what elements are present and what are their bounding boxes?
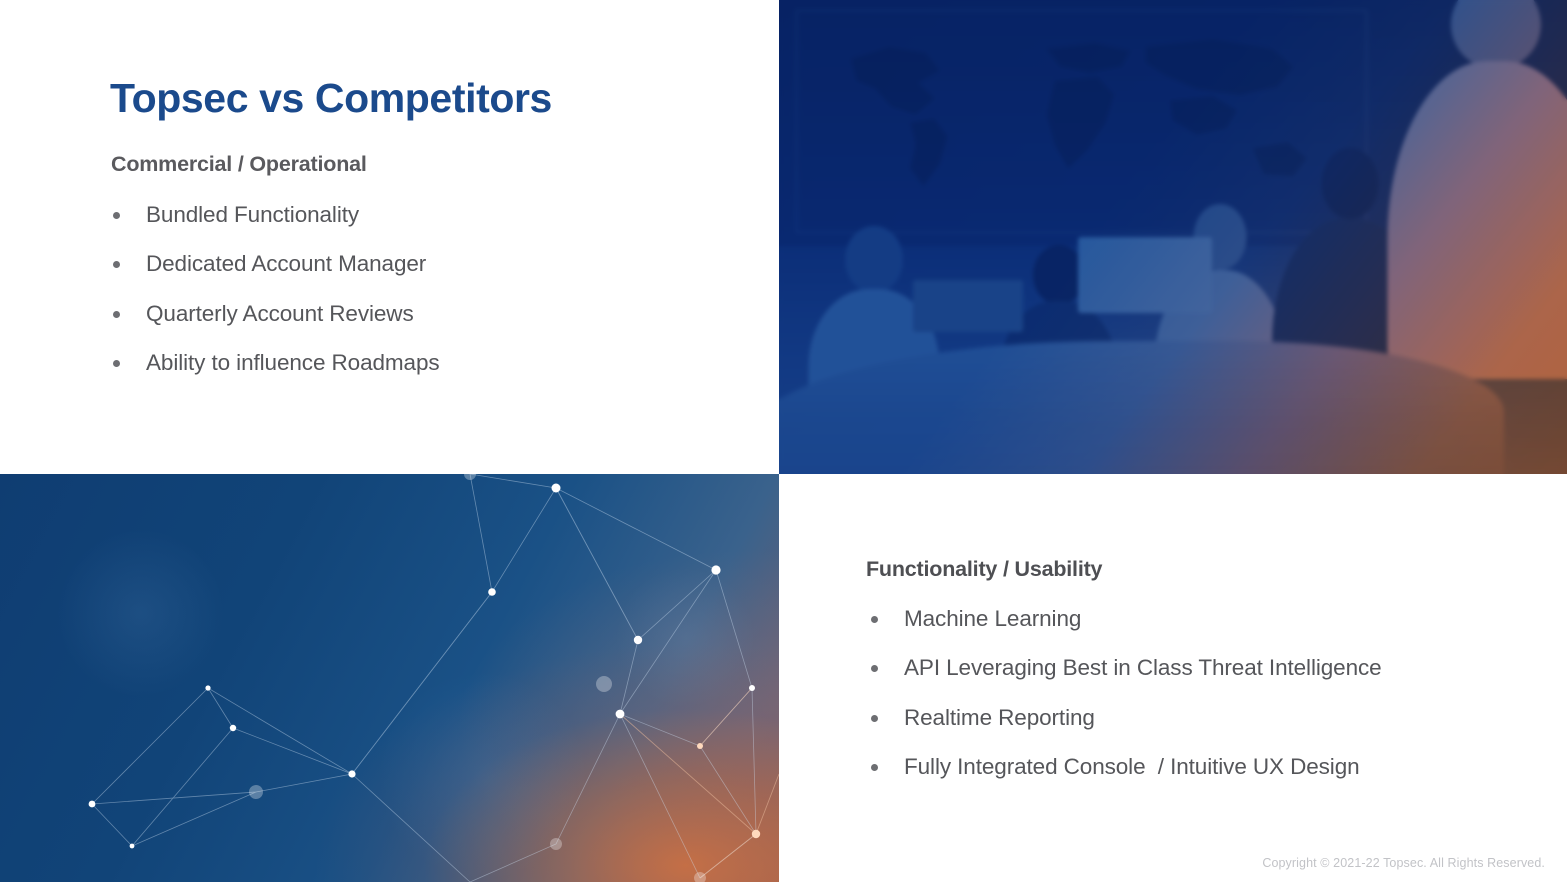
list-item: Machine Learning [866,604,1506,633]
list-item: Ability to influence Roadmaps [108,348,748,377]
photo-duotone-overlay [779,0,1567,474]
right-column-subheading: Functionality / Usability [866,557,1102,582]
quadrant-bottom-left [0,474,779,882]
list-item: Fully Integrated Console / Intuitive UX … [866,752,1506,781]
list-item: Quarterly Account Reviews [108,299,748,328]
left-column-subheading: Commercial / Operational [111,152,367,177]
page-title: Topsec vs Competitors [110,75,552,122]
quadrant-top-right [779,0,1567,474]
list-item: Bundled Functionality [108,200,748,229]
quadrant-top-left: Topsec vs Competitors Commercial / Opera… [0,0,779,474]
list-item: Realtime Reporting [866,703,1506,732]
list-item: Dedicated Account Manager [108,249,748,278]
business-meeting-photo [779,0,1567,474]
right-column-bullet-list: Machine Learning API Leveraging Best in … [866,604,1506,801]
list-item: API Leveraging Best in Class Threat Inte… [866,653,1506,682]
slide: Topsec vs Competitors Commercial / Opera… [0,0,1567,882]
network-constellation-graphic [0,474,779,882]
network-glow [0,474,779,882]
left-column-bullet-list: Bundled Functionality Dedicated Account … [108,200,748,397]
copyright-notice: Copyright © 2021-22 Topsec. All Rights R… [1262,856,1545,870]
